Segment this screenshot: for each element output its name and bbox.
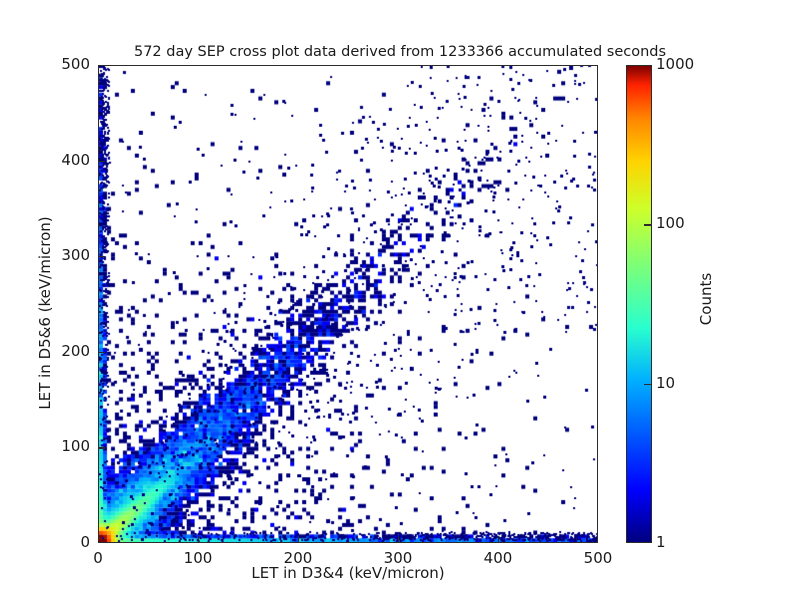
colorbar-gradient [627,66,651,542]
y-tick-mark [98,161,105,162]
x-axis-title: LET in D3&4 (keV/micron) [98,564,598,582]
x-tick-mark [298,536,299,543]
density-heatmap [99,66,597,542]
x-tick-mark [498,536,499,543]
colorbar-tick-mark [644,224,652,225]
y-axis-title: LET in D5&6 (keV/micron) [36,163,54,463]
y-tick-mark [98,256,105,257]
colorbar-tick-mark [644,384,652,385]
colorbar-title: Counts [697,179,715,419]
x-tick-mark [398,536,399,543]
y-tick-label-500: 500 [44,55,90,73]
colorbar-tick-label-10: 10 [656,374,675,392]
colorbar-tick-label-1: 1 [656,533,666,551]
colorbar [626,65,652,543]
plot-area [98,65,598,543]
colorbar-tick-label-1000: 1000 [656,55,694,73]
colorbar-tick-label-100: 100 [656,214,685,232]
x-tick-mark [198,536,199,543]
y-tick-mark [98,352,105,353]
figure-canvas: 572 day SEP cross plot data derived from… [0,0,800,600]
y-tick-mark [98,447,105,448]
